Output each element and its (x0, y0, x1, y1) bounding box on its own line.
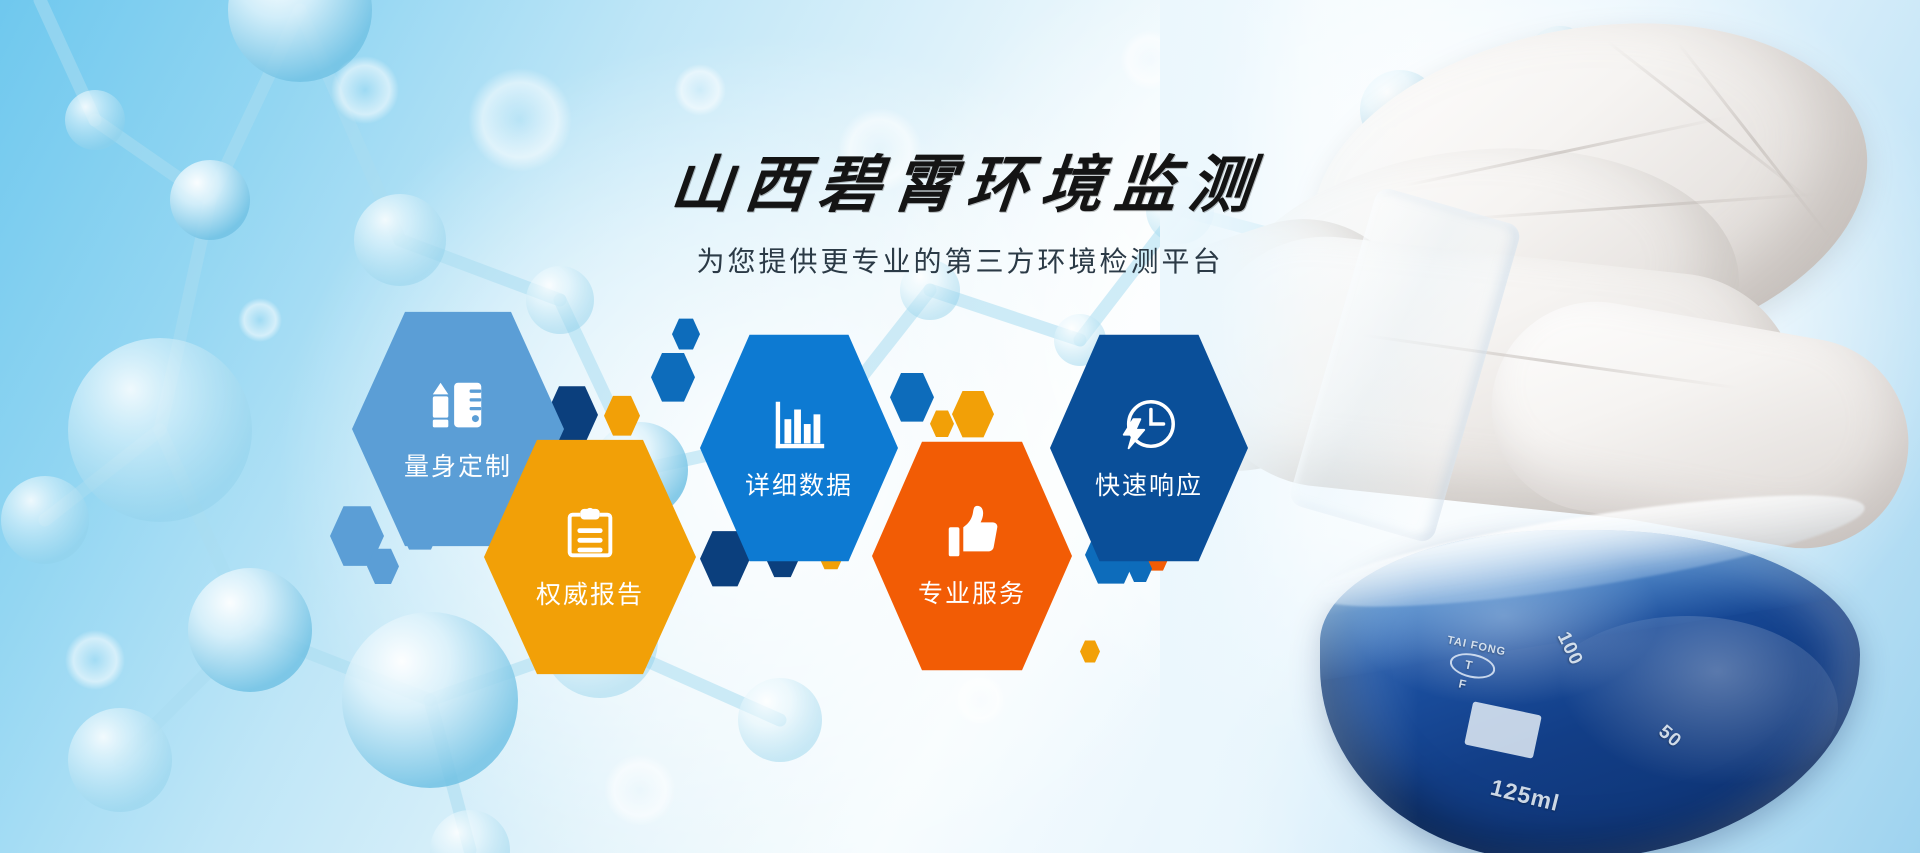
headline-block: 山西碧霄环境监测 为您提供更专业的第三方环境检测平台 (0, 152, 1920, 280)
fast-clock-icon (1118, 394, 1180, 456)
clipboard-icon (559, 503, 621, 565)
feature-hexagon-label: 详细数据 (745, 466, 853, 502)
feature-hexagon-label: 快速响应 (1095, 466, 1203, 502)
feature-hexagon-label: 量身定制 (404, 447, 512, 483)
decorative-hexagon (651, 352, 695, 403)
feature-hexagon-3[interactable]: 详细数据 (700, 330, 898, 566)
decorative-hexagon (1080, 640, 1100, 663)
page-title: 山西碧霄环境监测 (0, 152, 1920, 220)
decorative-hexagon (672, 318, 700, 350)
decorative-hexagon (604, 395, 640, 436)
page-subtitle: 为您提供更专业的第三方环境检测平台 (0, 240, 1920, 280)
feature-hexagon-label: 专业服务 (918, 574, 1026, 610)
thumbs-up-icon (941, 502, 1003, 564)
hero-banner: 100 50 125ml TAI FONG T F 山西碧霄环境监测 为您提供更… (0, 0, 1920, 853)
decorative-hexagon (952, 390, 994, 438)
pencil-ruler-icon (427, 375, 489, 437)
feature-hexagon-group: 量身定制权威报告详细数据专业服务快速响应 (0, 0, 1920, 853)
feature-hexagon-label: 权威报告 (536, 575, 644, 611)
bar-chart-icon (768, 394, 830, 456)
feature-hexagon-5[interactable]: 快速响应 (1050, 330, 1248, 566)
decorative-hexagon (930, 410, 954, 438)
feature-hexagon-4[interactable]: 专业服务 (872, 437, 1072, 675)
decorative-hexagon (890, 372, 934, 423)
